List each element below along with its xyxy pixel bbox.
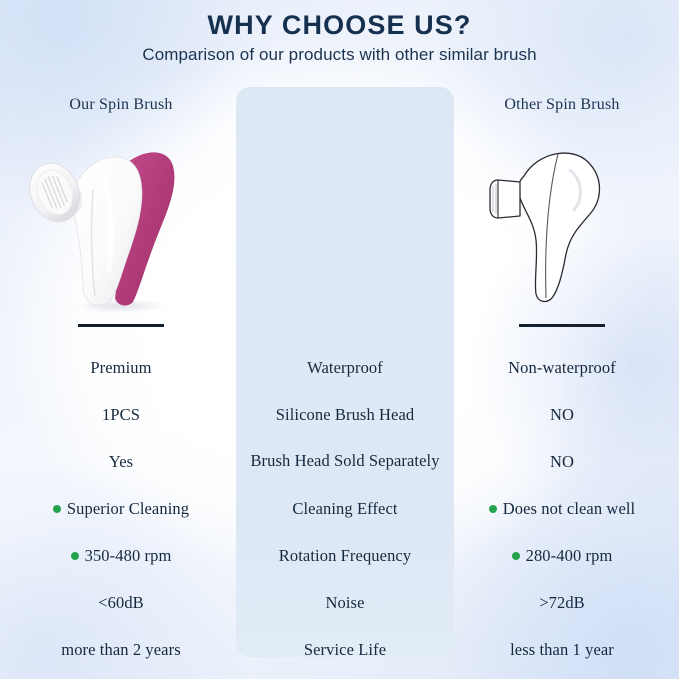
table-row: <60dB [11,579,231,626]
table-row: NO [452,438,672,485]
green-bullet-icon [489,505,497,513]
cell-value: >72dB [539,594,585,611]
divider-rule-ours [78,324,164,327]
column-heading-ours: Our Spin Brush [11,96,231,114]
table-row: Silicone Brush Head [236,391,454,438]
cell-value: NO [550,406,574,423]
table-row: Non-waterproof [452,344,672,391]
divider-rule-theirs [519,324,605,327]
column-other-product: Other Spin Brush [452,0,672,679]
cell-value: Premium [90,359,151,376]
cell-value: Non-waterproof [508,359,616,376]
cell-value: <60dB [98,594,144,611]
table-row: more than 2 years [11,626,231,673]
table-row: Premium [11,344,231,391]
column-our-product: Our Spin Brush [11,0,231,679]
feature-label: Brush Head Sold Separately [250,452,439,470]
table-row: 350-480 rpm [11,532,231,579]
product-image-our-spin-brush [11,130,231,315]
cell-value: NO [550,453,574,470]
column-feature-names: Waterproof Silicone Brush Head Brush Hea… [236,0,454,679]
feature-values-ours: Premium 1PCS Yes Superior Cleaning 350-4… [11,344,231,673]
cell-value: Does not clean well [503,500,635,517]
green-bullet-icon [53,505,61,513]
table-row: Noise [236,579,454,626]
comparison-infographic: WHY CHOOSE US? Comparison of our product… [0,0,679,679]
feature-names-list: Waterproof Silicone Brush Head Brush Hea… [236,344,454,673]
table-row: Yes [11,438,231,485]
table-row: NO [452,391,672,438]
table-row: >72dB [452,579,672,626]
cell-value: Superior Cleaning [67,500,189,517]
cell-value: 1PCS [102,406,140,423]
column-heading-theirs: Other Spin Brush [452,96,672,114]
feature-label: Cleaning Effect [292,500,397,517]
feature-values-theirs: Non-waterproof NO NO Does not clean well… [452,344,672,673]
spin-brush-pink-icon [21,130,221,315]
spin-brush-outline-icon [462,130,662,315]
product-image-other-spin-brush [452,130,672,315]
cell-value: Yes [109,453,133,470]
feature-label: Service Life [304,641,386,658]
table-row: 1PCS [11,391,231,438]
cell-value: 280-400 rpm [526,547,613,564]
table-row: Rotation Frequency [236,532,454,579]
feature-label: Silicone Brush Head [276,406,414,423]
table-row: Service Life [236,626,454,673]
table-row: Does not clean well [452,485,672,532]
table-row: Superior Cleaning [11,485,231,532]
feature-label: Noise [326,594,365,611]
green-bullet-icon [71,552,79,560]
feature-label: Rotation Frequency [279,547,411,564]
table-row: less than 1 year [452,626,672,673]
table-row: Cleaning Effect [236,485,454,532]
cell-value: more than 2 years [61,641,180,658]
cell-value: less than 1 year [510,641,614,658]
feature-label: Waterproof [307,359,383,376]
table-row: Waterproof [236,344,454,391]
table-row: 280-400 rpm [452,532,672,579]
green-bullet-icon [512,552,520,560]
table-row: Brush Head Sold Separately [236,438,454,485]
cell-value: 350-480 rpm [85,547,172,564]
